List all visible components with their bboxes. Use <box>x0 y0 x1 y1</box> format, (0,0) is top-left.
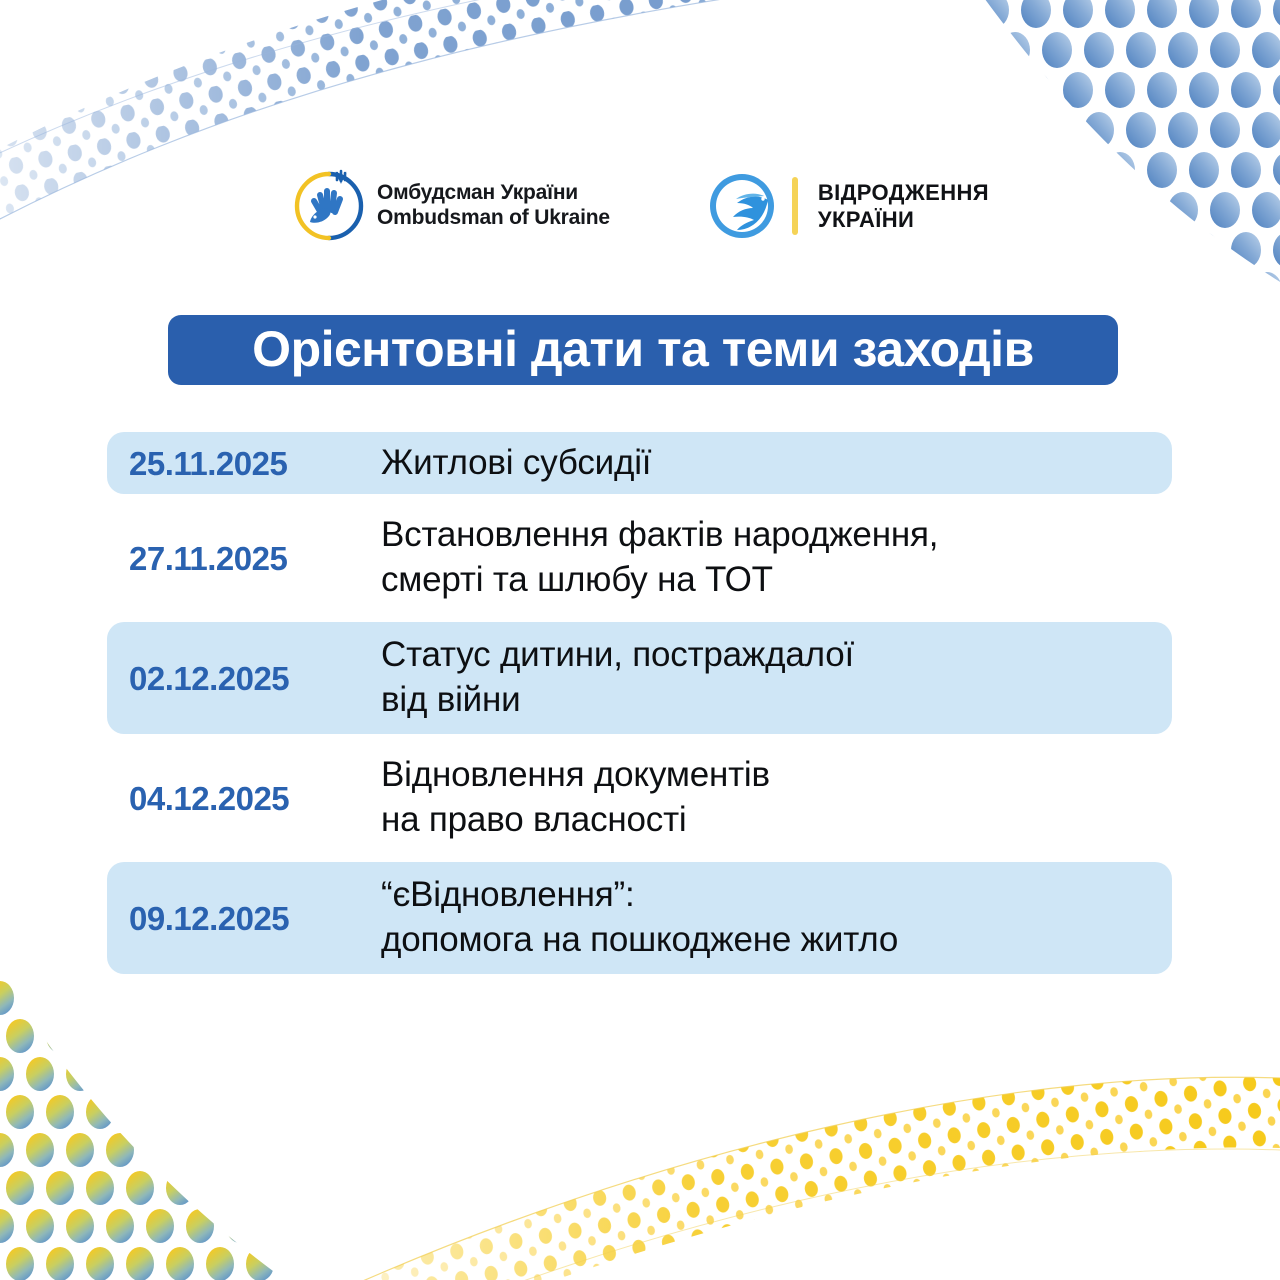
logo-divider <box>792 177 798 235</box>
vidrodzhennya-logo: ВІДРОДЖЕННЯ УКРАЇНИ <box>706 170 989 242</box>
decorative-dots-bottom-left <box>0 940 360 1280</box>
schedule-row: 02.12.2025 Статус дитини, постраждалої в… <box>107 622 1172 734</box>
event-date: 02.12.2025 <box>129 662 381 695</box>
ombudsman-logo-text: Омбудсман України Ombudsman of Ukraine <box>377 181 610 231</box>
event-date: 27.11.2025 <box>129 542 381 575</box>
page-title-banner: Орієнтовні дати та теми заходів <box>168 315 1118 385</box>
event-topic: Житлові субсидії <box>381 441 1172 486</box>
event-date: 09.12.2025 <box>129 902 381 935</box>
ombudsman-dove-hand-icon <box>291 168 367 244</box>
decorative-wave-bottom-right <box>320 1040 1280 1280</box>
schedule-row: 04.12.2025 Відновлення документів на пра… <box>107 742 1172 854</box>
event-topic: “єВідновлення”: допомога на пошкоджене ж… <box>381 873 1172 963</box>
phoenix-bird-icon <box>706 170 778 242</box>
decorative-dots-top-right <box>890 0 1280 300</box>
schedule-row: 09.12.2025 “єВідновлення”: допомога на п… <box>107 862 1172 974</box>
logo-bar: Омбудсман України Ombudsman of Ukraine В… <box>0 160 1280 252</box>
event-topic: Встановлення фактів народження, смерті т… <box>381 513 1172 603</box>
event-topic: Відновлення документів на право власност… <box>381 753 1172 843</box>
schedule-row: 25.11.2025 Житлові субсидії <box>107 432 1172 494</box>
ombudsman-name-ua: Омбудсман України <box>377 181 610 206</box>
infographic-page: Омбудсман України Ombudsman of Ukraine В… <box>0 0 1280 1280</box>
vidrodzhennya-line2: УКРАЇНИ <box>818 206 989 233</box>
schedule-row: 27.11.2025 Встановлення фактів народженн… <box>107 502 1172 614</box>
vidrodzhennya-logo-text: ВІДРОДЖЕННЯ УКРАЇНИ <box>818 179 989 234</box>
event-topic: Статус дитини, постраждалої від війни <box>381 633 1172 723</box>
event-date: 25.11.2025 <box>129 447 381 480</box>
page-title: Орієнтовні дати та теми заходів <box>252 324 1034 374</box>
ombudsman-logo: Омбудсман України Ombudsman of Ukraine <box>291 168 610 244</box>
ombudsman-name-en: Ombudsman of Ukraine <box>377 206 610 231</box>
event-date: 04.12.2025 <box>129 782 381 815</box>
vidrodzhennya-line1: ВІДРОДЖЕННЯ <box>818 179 989 206</box>
schedule-list: 25.11.2025 Житлові субсидії 27.11.2025 В… <box>107 432 1172 982</box>
